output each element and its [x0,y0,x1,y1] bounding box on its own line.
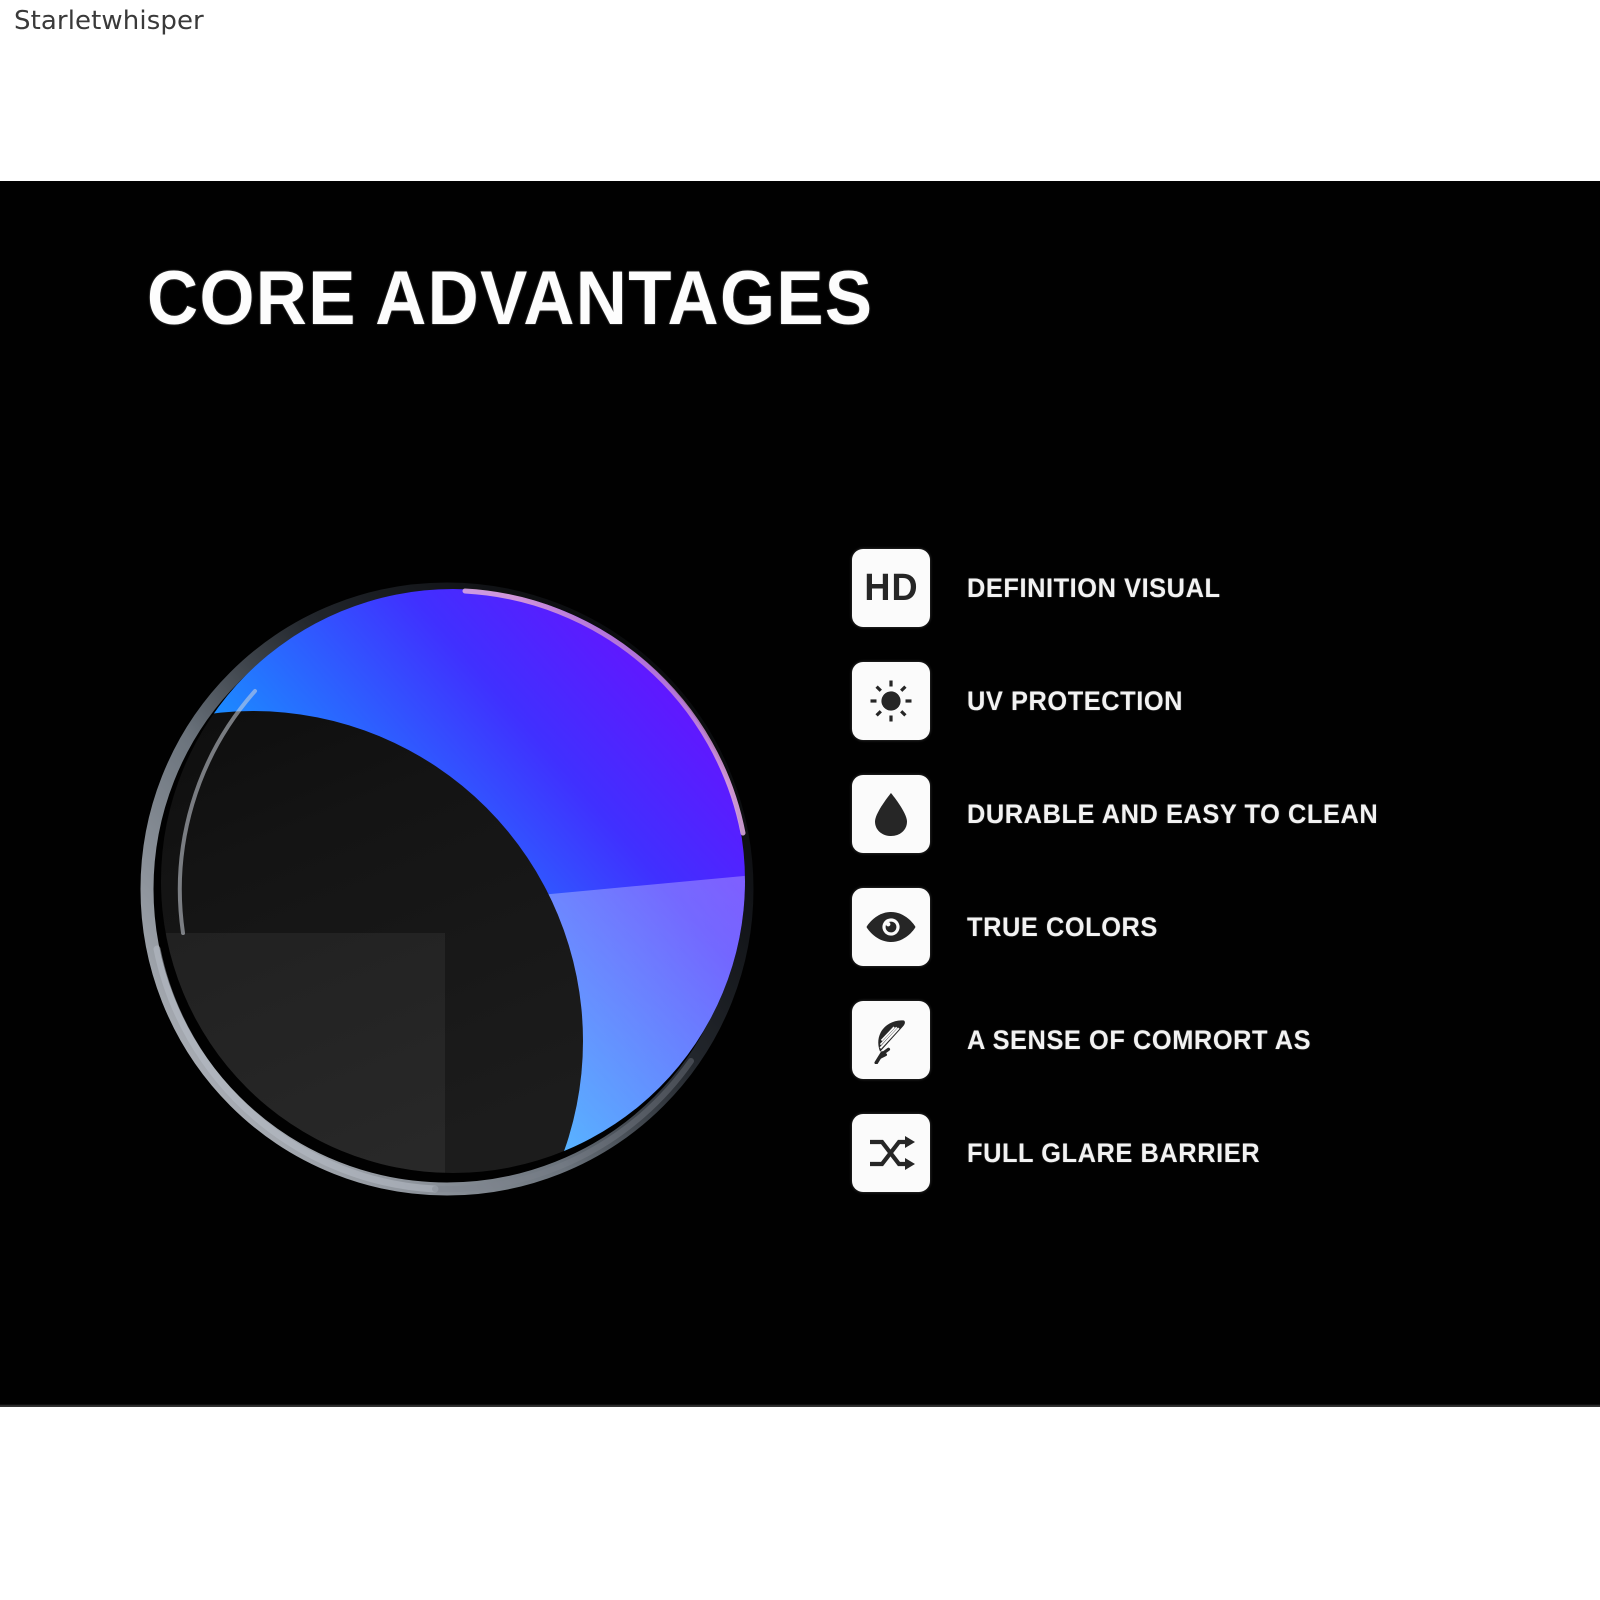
lens-illustration [135,481,775,1271]
feature-label: UV PROTECTION [967,686,1183,716]
feature-row[interactable]: UV PROTECTION [852,662,1472,740]
page-title: CORE ADVANTAGES [147,259,873,339]
shuffle-icon [852,1114,930,1192]
feature-label: DURABLE AND EASY TO CLEAN [967,799,1378,829]
sun-icon [852,662,930,740]
site-label: Starletwhisper [14,5,204,37]
product-banner: CORE ADVANTAGES [0,181,1600,1407]
hd-icon-label: HD [864,569,918,607]
feature-row[interactable]: FULL GLARE BARRIER [852,1114,1472,1192]
feature-row[interactable]: A SENSE OF COMRORT AS [852,1001,1472,1079]
feature-row[interactable]: DURABLE AND EASY TO CLEAN [852,775,1472,853]
feature-label: FULL GLARE BARRIER [967,1138,1260,1168]
feature-row[interactable]: HD DEFINITION VISUAL [852,549,1472,627]
feature-label: A SENSE OF COMRORT AS [967,1025,1311,1055]
eye-icon [852,888,930,966]
feature-row[interactable]: TRUE COLORS [852,888,1472,966]
water-drop-icon [852,775,930,853]
feather-icon [852,1001,930,1079]
hd-icon: HD [852,549,930,627]
lens-gradient-crescent [135,481,775,1271]
feature-label: DEFINITION VISUAL [967,573,1221,603]
feature-list: HD DEFINITION VISUAL [852,549,1472,1192]
feature-label: TRUE COLORS [967,912,1158,942]
